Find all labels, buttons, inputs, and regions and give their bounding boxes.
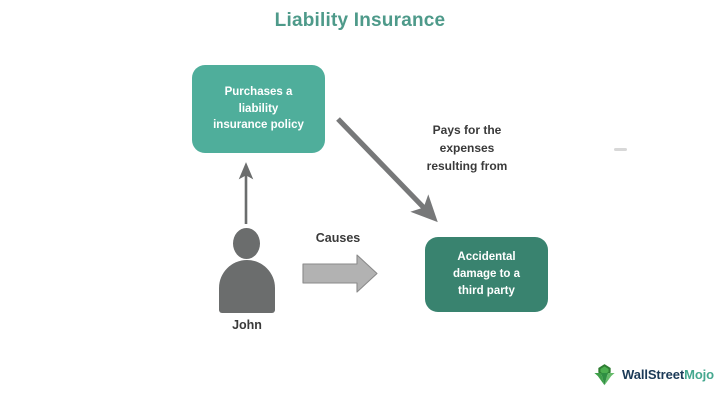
connector-layer — [0, 0, 720, 404]
policy-label-line-1: Purchases a — [225, 86, 293, 98]
wallstreetmojo-logo[interactable]: WallStreetMojo — [592, 362, 714, 387]
page-title: Liability Insurance — [0, 10, 720, 32]
node-purchases-policy-label: Purchases a liability insurance policy — [213, 84, 304, 134]
policy-label-line-3: insurance policy — [213, 119, 304, 131]
wallstreetmojo-logo-text: WallStreetMojo — [622, 367, 714, 382]
artifact-speck — [614, 148, 627, 151]
diagram-canvas: Liability Insurance Purchases a liabilit… — [0, 0, 720, 404]
damage-label-line-2: damage to a — [453, 268, 520, 280]
connector-label-causes: Causes — [296, 231, 380, 245]
person-icon — [219, 228, 275, 313]
person-body-icon — [219, 260, 275, 313]
person-head-icon — [233, 228, 260, 259]
logo-text-mojo: Mojo — [684, 367, 714, 382]
damage-label-line-1: Accidental — [457, 251, 515, 263]
pays-label-line-2: expenses — [440, 141, 495, 155]
arrow-causes-block — [303, 255, 377, 292]
damage-label-line-3: third party — [458, 285, 515, 297]
pays-label-line-3: resulting from — [427, 159, 508, 173]
person-name-label: John — [199, 318, 295, 332]
wallstreetmojo-logo-icon — [592, 362, 617, 387]
policy-label-line-2: liability — [239, 103, 279, 115]
pays-label-line-1: Pays for the — [433, 123, 502, 137]
node-accidental-damage-label: Accidental damage to a third party — [453, 249, 520, 299]
logo-text-wallstreet: WallStreet — [622, 367, 684, 382]
node-accidental-damage[interactable]: Accidental damage to a third party — [425, 237, 548, 312]
node-purchases-policy[interactable]: Purchases a liability insurance policy — [192, 65, 325, 153]
connector-label-pays: Pays for the expenses resulting from — [399, 121, 535, 175]
